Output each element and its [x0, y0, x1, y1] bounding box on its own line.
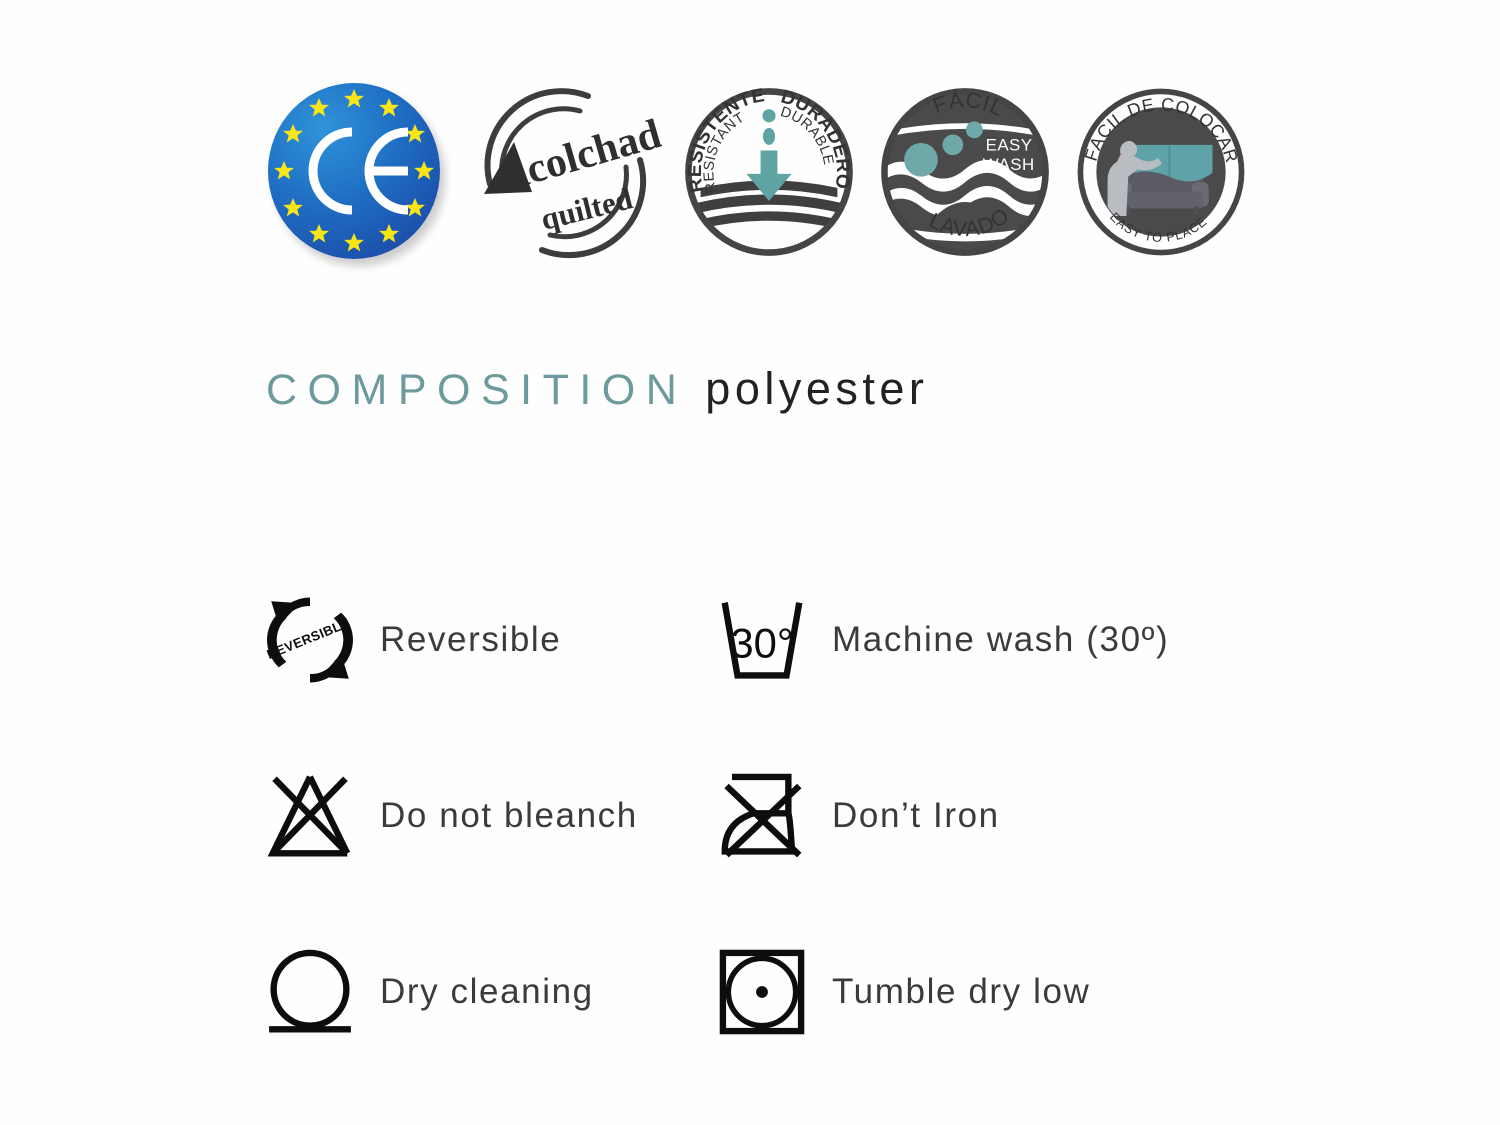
easy-label: EASY [986, 135, 1033, 154]
resistente-artwork: RESISTENTE RESISTANT DURADERO DURABLE [680, 77, 858, 267]
care-label-reversible: Reversible [380, 620, 561, 660]
facil-lavado-artwork: FÁCIL LAVADO EASY WASH [876, 77, 1054, 267]
care-label-do-not-iron: Don’t Iron [832, 796, 1000, 836]
acolchada-artwork: Acolchada quilted [462, 72, 662, 272]
facil-de-colocar-badge: FÁCIL DE COLOCAR EASY TO PLACE [1072, 77, 1250, 267]
care-label-dry-cleaning: Dry cleaning [380, 972, 594, 1012]
wash-label: WASH [983, 155, 1035, 174]
facil-colocar-artwork: FÁCIL DE COLOCAR EASY TO PLACE [1072, 77, 1250, 267]
facil-lavado-badge: FÁCIL LAVADO EASY WASH [876, 77, 1054, 267]
acolchada-quilted-badge: Acolchada quilted [462, 72, 662, 272]
machine-wash-icon: 30° [710, 585, 814, 695]
certification-badge-row: Acolchada quilted [262, 62, 1262, 282]
do-not-iron-icon [710, 761, 814, 871]
care-item-do-not-iron: Don’t Iron [710, 728, 1162, 904]
machine-wash-temp: 30° [730, 619, 793, 666]
care-label-machine-wash: Machine wash (30º) [832, 620, 1169, 660]
composition-value: polyester [705, 363, 928, 414]
care-item-dry-cleaning: Dry cleaning [258, 904, 710, 1080]
quilted-word: quilted [537, 180, 636, 236]
care-item-machine-wash: 30° Machine wash (30º) [710, 552, 1162, 728]
resistente-duradero-badge: RESISTENTE RESISTANT DURADERO DURABLE [680, 77, 858, 267]
ce-letters-icon [268, 83, 440, 259]
care-label-do-not-bleach: Do not bleanch [380, 796, 638, 836]
dry-cleaning-icon [258, 937, 362, 1047]
composition-label: COMPOSITION [266, 366, 687, 414]
care-label-tumble-dry-low: Tumble dry low [832, 972, 1090, 1012]
composition-line: COMPOSITIONpolyester [266, 363, 928, 415]
reversible-icon: REVERSIBLE [258, 585, 362, 695]
do-not-bleach-icon [258, 761, 362, 871]
acolchada-word: Acolchada [492, 105, 662, 201]
care-item-reversible: REVERSIBLE Reversible [258, 552, 710, 728]
care-item-tumble-dry-low: Tumble dry low [710, 904, 1162, 1080]
care-label-page: Acolchada quilted [0, 0, 1500, 1125]
care-instructions-grid: REVERSIBLE Reversible 30° Machine wash (… [258, 552, 1258, 1080]
tumble-dry-low-icon [710, 937, 814, 1047]
ce-badge [262, 77, 444, 267]
care-item-do-not-bleach: Do not bleanch [258, 728, 710, 904]
